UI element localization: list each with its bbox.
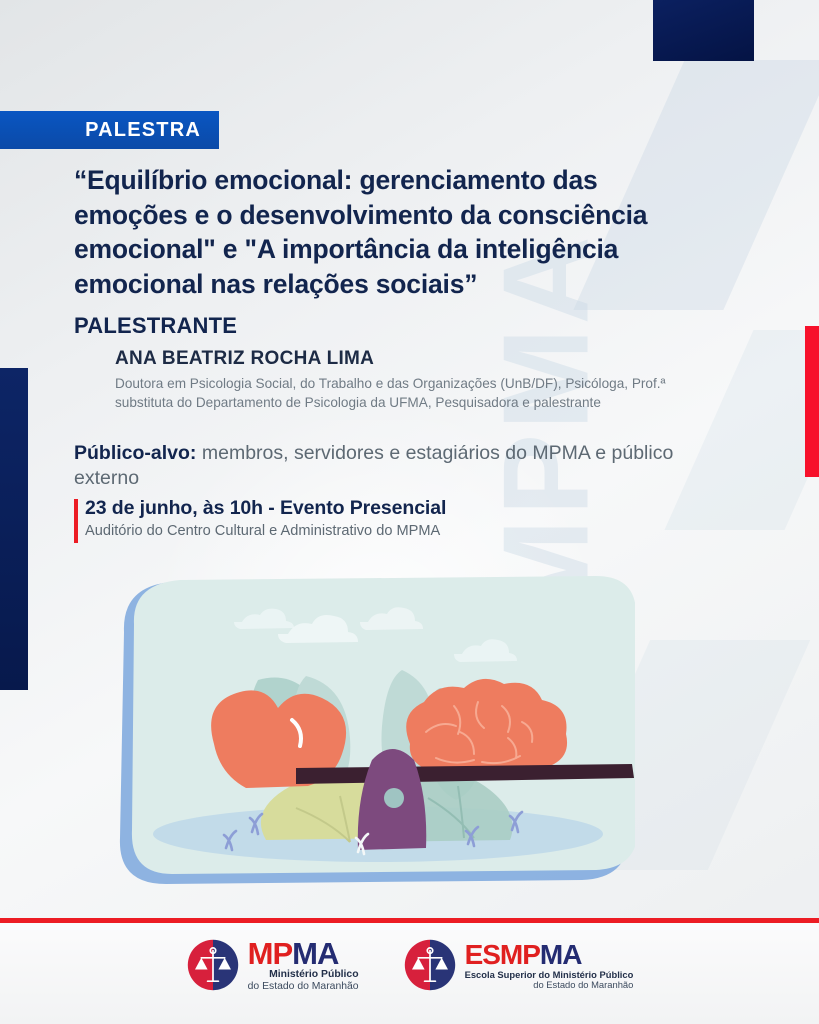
mpma-subtitle-2: do Estado do Maranhão (248, 982, 359, 992)
palestra-badge-label: PALESTRA (85, 119, 201, 142)
esmpma-logo-text: ESMPMA Escola Superior do Ministério Púb… (465, 941, 634, 990)
mpma-wordmark: MPMA (248, 938, 359, 969)
esmpma-subtitle-1: Escola Superior do Ministério Público (465, 970, 634, 979)
heart-brain-balance-illustration (110, 572, 635, 892)
palestra-badge: PALESTRA (0, 111, 219, 149)
red-accent-bar-right (805, 326, 819, 477)
speaker-section-label: PALESTRANTE (74, 313, 237, 339)
scales-of-justice-icon (403, 938, 457, 992)
event-venue: Auditório do Centro Cultural e Administr… (85, 523, 674, 539)
esmpma-word-red: ESMP (465, 939, 540, 970)
navy-accent-bar-left (0, 368, 28, 690)
esmpma-word-navy: MA (540, 939, 582, 970)
mpma-word-red: MP (248, 936, 293, 971)
mpma-word-navy: MA (292, 936, 338, 971)
audience-line: Público-alvo: membros, servidores e esta… (74, 441, 674, 491)
event-date: 23 de junho, às 10h - Evento Presencial (85, 497, 674, 520)
mpma-subtitle-1: Ministério Público (248, 970, 359, 980)
esmpma-wordmark: ESMPMA (465, 941, 634, 969)
footer-logos: MPMA Ministério Público do Estado do Mar… (0, 938, 819, 992)
speaker-bio: Doutora em Psicologia Social, do Trabalh… (115, 374, 715, 413)
event-details: 23 de junho, às 10h - Evento Presencial … (74, 497, 674, 539)
scales-of-justice-icon (186, 938, 240, 992)
esmpma-subtitle-2: do Estado do Maranhão (465, 980, 634, 989)
diagonal-band-middle (664, 330, 819, 530)
esmpma-logo: ESMPMA Escola Superior do Ministério Púb… (403, 938, 634, 992)
audience-label: Público-alvo: (74, 442, 196, 464)
speaker-name: ANA BEATRIZ ROCHA LIMA (115, 348, 374, 370)
talk-title: “Equilíbrio emocional: gerenciamento das… (74, 163, 714, 302)
footer-red-rule (0, 918, 819, 923)
mpma-logo-text: MPMA Ministério Público do Estado do Mar… (248, 938, 359, 992)
mpma-logo: MPMA Ministério Público do Estado do Mar… (186, 938, 359, 992)
navy-accent-rectangle-top (653, 0, 754, 61)
poster-canvas: ESMPMA PALESTRA “Equilíbrio emocional: g… (0, 0, 819, 1024)
